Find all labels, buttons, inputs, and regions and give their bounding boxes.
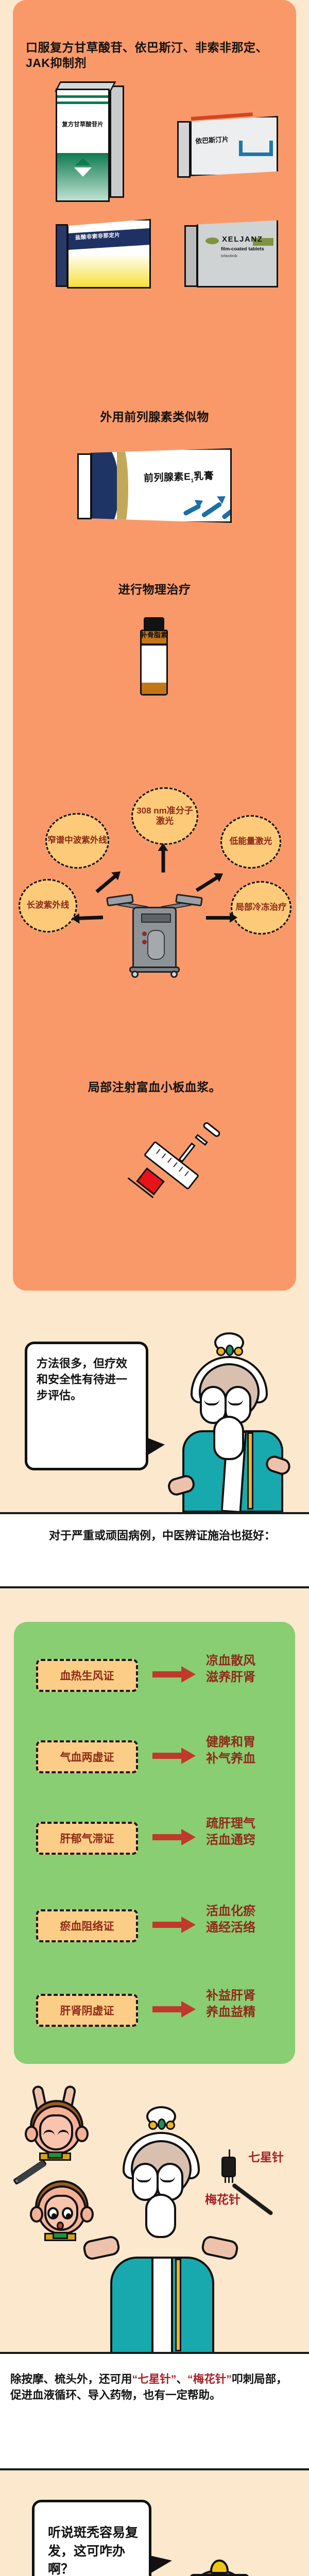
tcm-row-arrow-head xyxy=(181,1748,196,1764)
monkey-eye-right xyxy=(62,2207,73,2219)
box-label-tail: 乳膏 xyxy=(194,471,214,482)
box-label: 前列腺素E1乳膏 xyxy=(144,468,214,486)
box-endcap xyxy=(177,121,191,178)
tcm-treatment: 凉血散风 滋养肝肾 xyxy=(206,1653,255,1685)
tcm-treatment: 健脾和胃 补气养血 xyxy=(206,1734,255,1767)
monkey-massage-illustration xyxy=(25,2088,97,2160)
speech-tail xyxy=(146,1437,165,1456)
injection-heading: 局部注射富血小板血浆。 xyxy=(0,1080,309,1095)
brand-name: XELJANZ xyxy=(222,235,263,244)
jade-jewel xyxy=(226,1345,234,1356)
machine-body xyxy=(132,907,177,969)
monkey-king-character xyxy=(163,2540,302,2576)
tcm-row: 气血两虚证 健脾和胃 补气养血 xyxy=(36,1734,278,1780)
monkey-ear-left xyxy=(25,2126,38,2142)
scale-tick xyxy=(162,1154,166,1159)
modality-bubble-308nm-laser: 308 nm准分子激光 xyxy=(131,787,198,845)
tcm-intro-text: 对于严重或顽固病例，中医辨证施治也挺好： xyxy=(0,1514,309,1544)
jade-jewel xyxy=(158,2119,166,2130)
tcm-row: 瘀血阻络证 活血化瘀 通经活络 xyxy=(36,1903,278,1948)
gold-ornament xyxy=(234,1347,243,1356)
syringe-flange xyxy=(178,1142,196,1162)
sage-caution-speech-text: 方法很多，但疗效和安全性有待进一步评估。 xyxy=(27,1344,146,1415)
tcm-row-arrow-head xyxy=(181,1829,196,1845)
compound-glycyrrhizin-box: 复方甘草酸苷片 xyxy=(56,89,110,202)
navy-swoosh xyxy=(92,448,119,523)
box-endcap xyxy=(77,453,92,519)
bottle-label: 补骨脂素 xyxy=(139,630,169,639)
modality-bubble-long-wave-uva: 长波紫外线 xyxy=(19,879,77,933)
monkey-scarf xyxy=(53,2232,68,2239)
arrow-to-308nm xyxy=(162,850,165,873)
tcm-syndrome-chip: 瘀血阻络证 xyxy=(36,1909,138,1942)
gold-swoosh xyxy=(117,448,128,523)
physical-therapy-heading: 进行物理治疗 xyxy=(0,582,309,598)
needles-caption-text: 除按摩、梳头外，还可用“七星针”、“梅花针”叩刺局部，促进血液循环、导入药物，也… xyxy=(0,2354,309,2403)
sage-beard xyxy=(213,1416,244,1460)
machine-wheel xyxy=(131,971,139,978)
sage-character-needles xyxy=(88,2093,237,2352)
sage-sash xyxy=(247,1432,253,1510)
oral-drugs-heading: 口服复方甘草酸苷、依巴斯汀、非索非那定、JAK抑制剂 xyxy=(26,40,288,71)
caption-part: 、 xyxy=(177,2373,188,2385)
box-face: 前列腺素E1乳膏 xyxy=(91,448,232,523)
green-stripe xyxy=(57,95,108,98)
xeljanz-box: XELJANZ film-coated tablets tofacitinib xyxy=(184,219,278,289)
tcm-row-arrow xyxy=(152,1753,181,1759)
tcm-treatment: 活血化瘀 通经活络 xyxy=(206,1903,255,1936)
needles-caption-band: 除按摩、梳头外，还可用“七星针”、“梅花针”叩刺局部，促进血液循环、导入药物，也… xyxy=(0,2352,309,2470)
sage-beard xyxy=(145,2194,176,2238)
sage-sash xyxy=(175,2259,181,2351)
sage-collar xyxy=(151,2257,173,2354)
scale-tick xyxy=(179,1166,183,1172)
scale-tick xyxy=(173,1162,177,1167)
hammer-handle xyxy=(232,2183,273,2216)
tcm-treatment-line2: 活血通窍 xyxy=(206,1832,255,1849)
tcm-intro-band: 对于严重或顽固病例，中医辨证施治也挺好： xyxy=(0,1512,309,1588)
modality-label: 低能量激光 xyxy=(230,837,272,846)
machine-control-panel xyxy=(147,930,165,960)
fexofenadine-box: 盐酸非索非那定片 xyxy=(56,219,151,289)
tcm-treatment-line2: 滋养肝肾 xyxy=(206,1669,255,1686)
tcm-row-arrow xyxy=(152,1671,181,1677)
phototherapy-machine xyxy=(121,882,188,977)
tcm-row: 血热生风证 凉血散风 滋养肝肾 xyxy=(36,1653,278,1698)
headband-crescent xyxy=(210,2560,229,2574)
tcm-treatment-line1: 健脾和胃 xyxy=(206,1734,255,1751)
yellow-gradient-panel xyxy=(68,255,149,287)
tcm-row: 肝肾阴虚证 补益肝肾 养血益精 xyxy=(36,1988,278,2033)
tcm-syndrome-label: 气血两虚证 xyxy=(60,1749,114,1765)
blue-bracket xyxy=(239,141,273,156)
olive-dot xyxy=(205,238,219,244)
machine-screen xyxy=(141,913,171,923)
caption-part-accent: “七星针” xyxy=(132,2373,177,2385)
tcm-treatment: 疏肝理气 活血通窍 xyxy=(206,1816,255,1848)
monkey-question-speech-text: 听说斑秃容易复发，这可咋办啊？ xyxy=(35,2502,149,2576)
tcm-row-arrow xyxy=(152,1922,181,1928)
scale-tick xyxy=(156,1149,160,1154)
monkey-pupil xyxy=(66,2213,71,2219)
bottle-body xyxy=(140,644,168,696)
box-face: XELJANZ film-coated tablets tofacitinib xyxy=(197,219,278,287)
tcm-treatment-line2: 通经活络 xyxy=(206,1920,255,1936)
tcm-row: 肝郁气滞证 疏肝理气 活血通窍 xyxy=(36,1816,278,1861)
modality-bubble-low-energy-laser: 低能量激光 xyxy=(220,815,281,869)
box-side xyxy=(110,86,124,198)
scale-tick xyxy=(184,1171,188,1176)
tcm-syndrome-chip: 肝肾阴虚证 xyxy=(36,1994,138,2027)
green-stripe xyxy=(57,101,108,104)
machine-indicator xyxy=(142,931,147,936)
tcm-syndrome-chip: 气血两虚证 xyxy=(36,1740,138,1773)
syringe-thumb-rest xyxy=(202,1121,221,1139)
tcm-treatment-line1: 凉血散风 xyxy=(206,1653,255,1669)
box-face: 复方甘草酸苷片 xyxy=(56,89,110,202)
machine-indicator xyxy=(142,940,147,944)
tcm-treatment: 补益肝肾 养血益精 xyxy=(206,1988,255,2020)
monkey-ear-right xyxy=(75,2126,89,2142)
topical-heading: 外用前列腺素类似物 xyxy=(0,410,309,425)
caption-part: 除按摩、梳头外，还可用 xyxy=(10,2373,132,2385)
psoralen-bottle: 补骨脂素 xyxy=(139,617,169,706)
box-label: 复方甘草酸苷片 xyxy=(57,120,108,128)
modality-bubble-narrowband-uvb: 窄谱中波紫外线 xyxy=(45,813,109,869)
tcm-treatment-line2: 养血益精 xyxy=(206,2004,255,2021)
arrow-to-cryotherapy xyxy=(206,916,231,920)
sage-character-caution xyxy=(170,1329,299,1512)
scale-tick xyxy=(167,1158,171,1163)
tcm-treatment-line1: 活血化瘀 xyxy=(206,1903,255,1920)
modality-label: 窄谱中波紫外线 xyxy=(47,836,107,845)
bottle-cap xyxy=(144,617,164,631)
chevron-mark xyxy=(75,158,91,165)
tcm-row-arrow xyxy=(152,1834,181,1840)
sage-hand-left-open xyxy=(82,2234,121,2261)
modality-label: 局部冷冻治疗 xyxy=(236,903,287,912)
gold-ornament xyxy=(148,2121,158,2130)
ebastine-box: 依巴斯汀片 xyxy=(178,116,278,180)
tcm-treatment-line2: 补气养血 xyxy=(206,1751,255,1767)
monkey-ear-left xyxy=(30,2206,43,2223)
gold-ornament xyxy=(216,1347,226,1356)
box-label-main: 前列腺素E xyxy=(144,471,191,484)
tcm-syndrome-label: 肝郁气滞证 xyxy=(60,1831,114,1846)
box-endcap xyxy=(56,224,68,287)
syringe-plunger xyxy=(195,1134,208,1146)
golden-headband xyxy=(190,2574,249,2576)
tcm-treatment-line1: 疏肝理气 xyxy=(206,1816,255,1832)
generic-name: tofacitinib xyxy=(221,253,237,258)
machine-wheel xyxy=(170,971,178,978)
modality-label: 长波紫外线 xyxy=(27,901,70,910)
syringe-illustration xyxy=(129,1119,227,1217)
monkey-eye-left xyxy=(47,2207,59,2219)
modality-label: 308 nm准分子激光 xyxy=(133,806,197,826)
tcm-syndrome-label: 肝肾阴虚证 xyxy=(60,2003,114,2018)
tcm-syndrome-chip: 血热生风证 xyxy=(36,1659,138,1692)
monkey-pupil xyxy=(51,2213,57,2219)
sage-caution-speech-bubble: 方法很多，但疗效和安全性有待进一步评估。 xyxy=(25,1342,148,1470)
tcm-row-arrow-head xyxy=(181,1666,196,1683)
box-endcap xyxy=(184,225,198,287)
gold-ornament xyxy=(166,2121,175,2130)
monkey-mouth xyxy=(57,2222,64,2230)
monkey-question-speech-bubble: 听说斑秃容易复发，这可咋办啊？ xyxy=(32,2500,151,2576)
monkey-scarf xyxy=(47,2151,63,2159)
tcm-syndrome-label: 血热生风证 xyxy=(60,1668,114,1683)
tcm-row-arrow-head xyxy=(181,2001,196,2018)
chevron-mark xyxy=(74,167,92,177)
tcm-syndrome-chip: 肝郁气滞证 xyxy=(36,1822,138,1855)
tcm-row-arrow-head xyxy=(181,1917,196,1933)
tcm-row-arrow xyxy=(152,2006,181,2012)
syringe-plasma-fill xyxy=(136,1167,165,1195)
sage-hand-right-open xyxy=(200,2234,239,2261)
tcm-treatment-line1: 补益肝肾 xyxy=(206,1988,255,2004)
box-face xyxy=(67,219,151,289)
prostaglandin-e1-cream-box: 前列腺素E1乳膏 xyxy=(77,448,232,523)
brand-subtitle: film-coated tablets xyxy=(221,246,264,252)
tcm-syndrome-label: 瘀血阻络证 xyxy=(60,1918,114,1934)
modality-bubble-cryotherapy: 局部冷冻治疗 xyxy=(231,881,291,935)
caption-part-accent: “梅花针” xyxy=(187,2373,232,2385)
bottle-liquid xyxy=(142,683,166,694)
